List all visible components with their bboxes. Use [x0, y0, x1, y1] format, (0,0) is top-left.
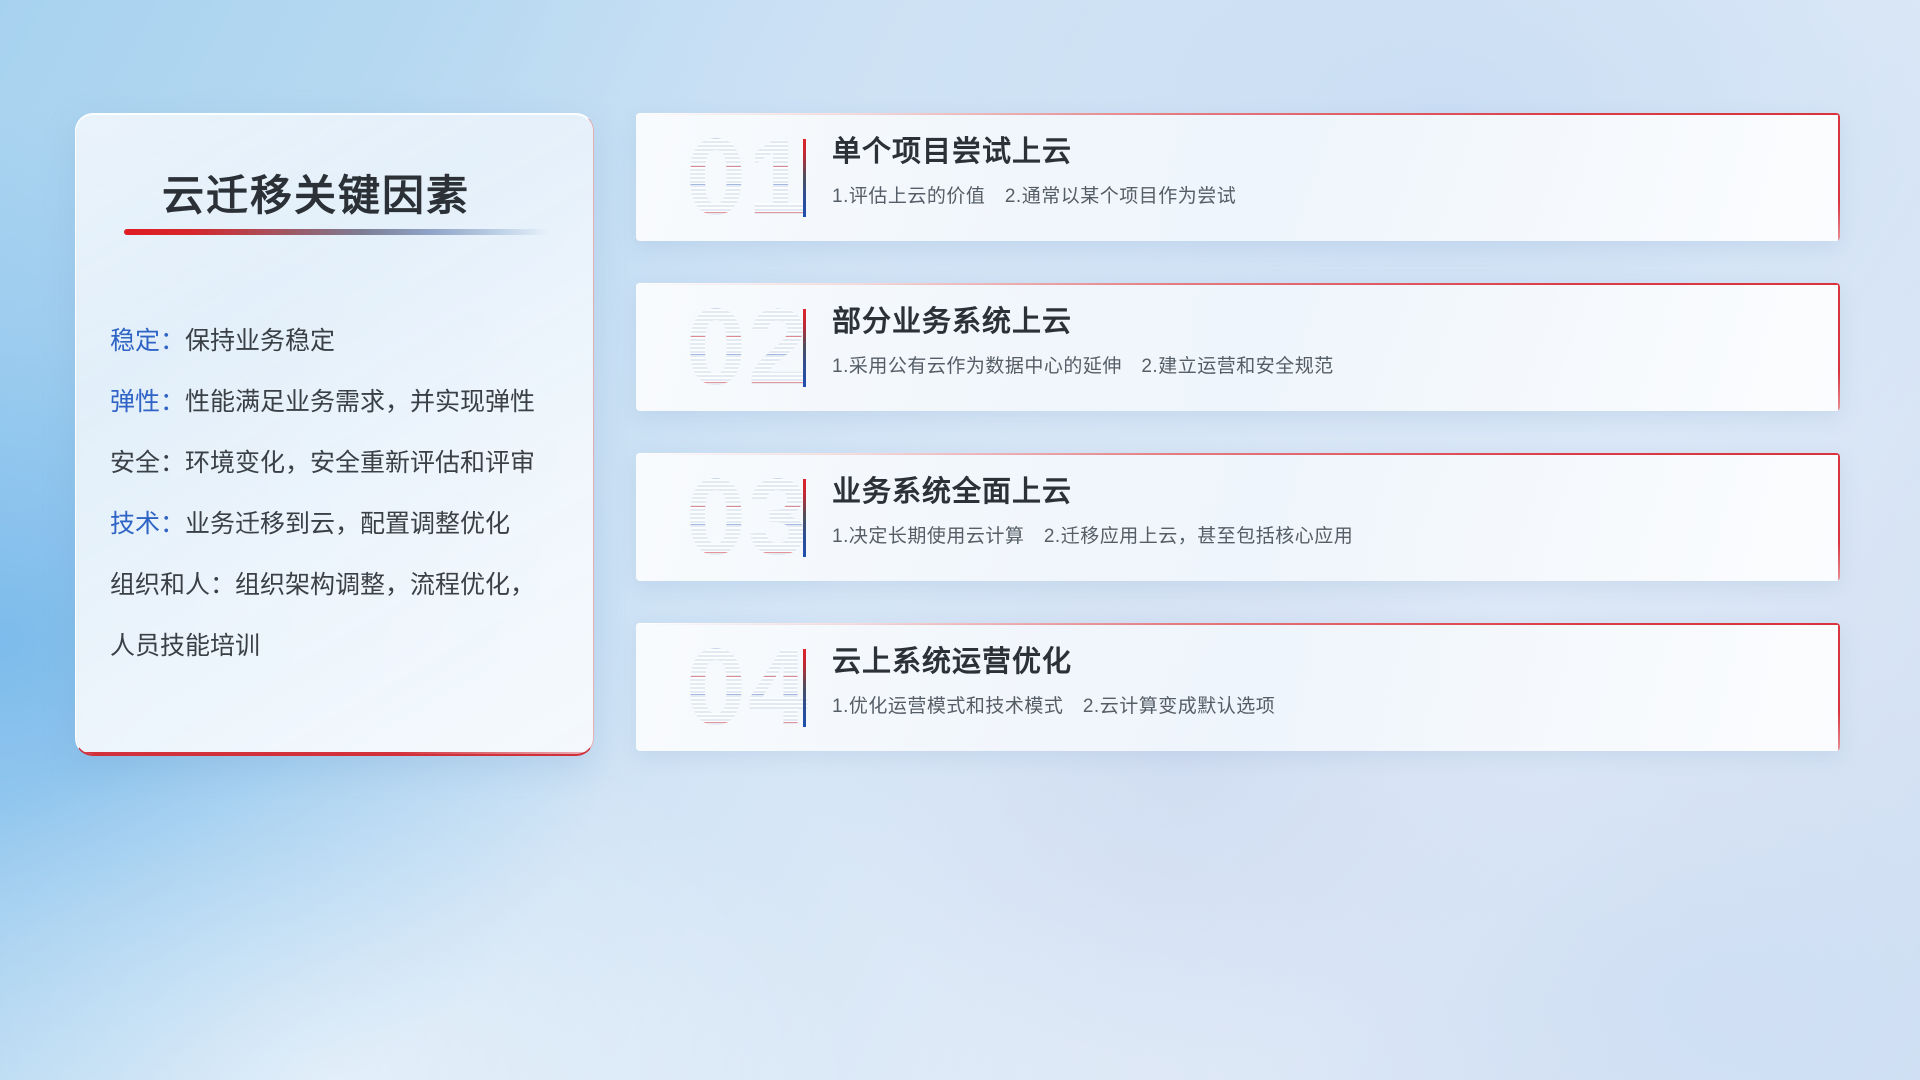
stage-divider-bar: [803, 139, 806, 217]
stage-subtitle: 1.决定长期使用云计算 2.迁移应用上云，甚至包括核心应用: [832, 523, 1800, 551]
factor-value: 组织架构调整，流程优化，: [235, 571, 535, 599]
factor-value: 业务迁移到云，配置调整优化: [185, 510, 510, 538]
list-item: 弹性：性能满足业务需求，并实现弹性: [110, 372, 565, 433]
stage-text-block: 云上系统运营优化 1.优化运营模式和技术模式 2.云计算变成默认选项: [832, 641, 1800, 721]
factor-key: 技术：: [110, 510, 185, 538]
stage-title: 业务系统全面上云: [832, 471, 1800, 513]
factor-key: 弹性：: [110, 388, 185, 416]
stage-title: 云上系统运营优化: [832, 641, 1800, 683]
factor-value: 环境变化，安全重新评估和评审: [185, 449, 535, 477]
stage-text-block: 业务系统全面上云 1.决定长期使用云计算 2.迁移应用上云，甚至包括核心应用: [832, 471, 1800, 551]
list-item: 稳定：保持业务稳定: [110, 311, 565, 372]
stage-divider-bar: [803, 649, 806, 727]
factor-value: 人员技能培训: [110, 632, 260, 660]
stage-subtitle: 1.优化运营模式和技术模式 2.云计算变成默认选项: [832, 693, 1800, 721]
key-factors-list: 稳定：保持业务稳定 弹性：性能满足业务需求，并实现弹性 安全：环境变化，安全重新…: [110, 311, 565, 677]
stage-subtitle: 1.评估上云的价值 2.通常以某个项目作为尝试: [832, 183, 1800, 211]
factor-key: 稳定：: [110, 327, 185, 355]
stage-card-02[interactable]: 02 02 02 部分业务系统上云 1.采用公有云作为数据中心的延伸 2.建立运…: [636, 283, 1840, 411]
stage-number: 04: [658, 623, 838, 751]
stage-card-03[interactable]: 03 03 03 业务系统全面上云 1.决定长期使用云计算 2.迁移应用上云，甚…: [636, 453, 1840, 581]
stage-subtitle: 1.采用公有云作为数据中心的延伸 2.建立运营和安全规范: [832, 353, 1800, 381]
stage-number: 01: [658, 113, 838, 241]
factor-key: 组织和人：: [110, 571, 235, 599]
stage-divider-bar: [803, 309, 806, 387]
list-item: 组织和人：组织架构调整，流程优化，: [110, 555, 565, 616]
stage-number: 02: [658, 283, 838, 411]
stage-number: 03: [658, 453, 838, 581]
migration-stages-list: 01 01 01 单个项目尝试上云 1.评估上云的价值 2.通常以某个项目作为尝…: [636, 113, 1840, 793]
page-title: 云迁移关键因素: [162, 162, 470, 223]
stage-text-block: 单个项目尝试上云 1.评估上云的价值 2.通常以某个项目作为尝试: [832, 131, 1800, 211]
stage-title: 单个项目尝试上云: [832, 131, 1800, 173]
stage-card-04[interactable]: 04 04 04 云上系统运营优化 1.优化运营模式和技术模式 2.云计算变成默…: [636, 623, 1840, 751]
factor-value: 性能满足业务需求，并实现弹性: [185, 388, 535, 416]
title-underline-rule: [124, 229, 549, 235]
factor-key: 安全：: [110, 449, 185, 477]
factor-value: 保持业务稳定: [185, 327, 335, 355]
key-factors-panel: 云迁移关键因素 稳定：保持业务稳定 弹性：性能满足业务需求，并实现弹性 安全：环…: [75, 113, 594, 756]
list-item: 技术：业务迁移到云，配置调整优化: [110, 494, 565, 555]
stage-divider-bar: [803, 479, 806, 557]
list-item-continuation: 人员技能培训: [110, 616, 565, 677]
stage-card-01[interactable]: 01 01 01 单个项目尝试上云 1.评估上云的价值 2.通常以某个项目作为尝…: [636, 113, 1840, 241]
stage-title: 部分业务系统上云: [832, 301, 1800, 343]
slide-canvas: 云迁移关键因素 稳定：保持业务稳定 弹性：性能满足业务需求，并实现弹性 安全：环…: [0, 0, 1920, 1080]
list-item: 安全：环境变化，安全重新评估和评审: [110, 433, 565, 494]
stage-text-block: 部分业务系统上云 1.采用公有云作为数据中心的延伸 2.建立运营和安全规范: [832, 301, 1800, 381]
